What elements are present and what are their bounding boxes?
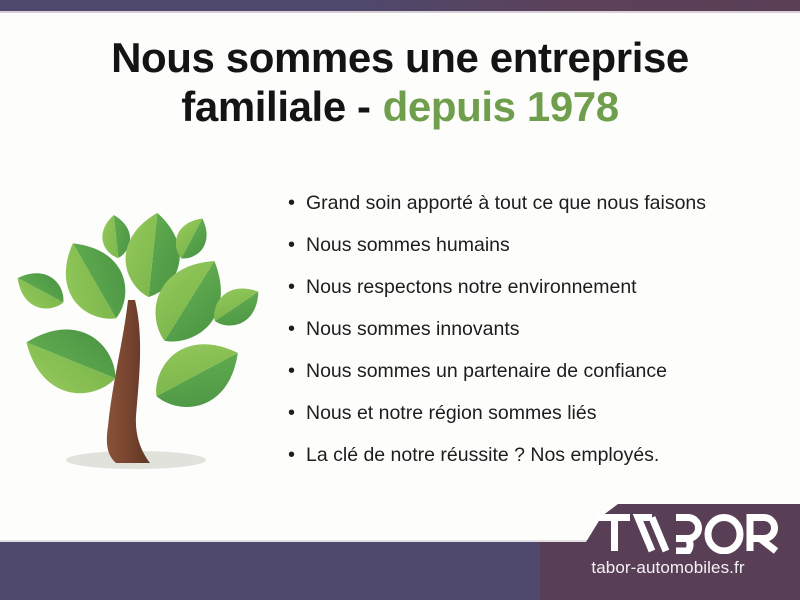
list-item-label: La clé de notre réussite ? Nos employés.: [306, 442, 659, 468]
list-item: • Nous sommes innovants: [286, 316, 776, 358]
list-item: • Nous sommes humains: [286, 232, 776, 274]
tree-icon: [8, 188, 274, 490]
bullet-marker-icon: •: [286, 442, 306, 468]
tree-leaves: [10, 210, 268, 422]
title-line-1: Nous sommes une entreprise: [0, 34, 800, 83]
bullet-marker-icon: •: [286, 400, 306, 426]
bullet-marker-icon: •: [286, 274, 306, 300]
bullet-marker-icon: •: [286, 358, 306, 384]
bullet-list: • Grand soin apporté à tout ce que nous …: [286, 190, 776, 484]
tree-trunk: [107, 300, 150, 463]
list-item-label: Nous sommes un partenaire de confiance: [306, 358, 667, 384]
list-item-label: Nous respectons notre environnement: [306, 274, 637, 300]
tabor-logo-wordmark: [596, 512, 786, 554]
bullet-marker-icon: •: [286, 316, 306, 342]
top-bar-underline: [0, 11, 800, 13]
title-line-2: familiale -depuis 1978: [0, 83, 800, 132]
top-gradient-bar: [0, 0, 800, 11]
list-item-label: Nous sommes humains: [306, 232, 510, 258]
list-item: • La clé de notre réussite ? Nos employé…: [286, 442, 776, 484]
list-item: • Grand soin apporté à tout ce que nous …: [286, 190, 776, 232]
title-line-2-accent: depuis 1978: [383, 83, 619, 130]
list-item-label: Nous sommes innovants: [306, 316, 520, 342]
list-item: • Nous sommes un partenaire de confiance: [286, 358, 776, 400]
title-line-2-plain: familiale -: [181, 83, 370, 130]
list-item: • Nous respectons notre environnement: [286, 274, 776, 316]
logo-url-label: tabor-automobiles.fr: [540, 558, 796, 578]
list-item-label: Grand soin apporté à tout ce que nous fa…: [306, 190, 706, 216]
bullet-marker-icon: •: [286, 190, 306, 216]
page-title: Nous sommes une entreprise familiale -de…: [0, 34, 800, 131]
list-item-label: Nous et notre région sommes liés: [306, 400, 596, 426]
slide-canvas: Nous sommes une entreprise familiale -de…: [0, 0, 800, 600]
list-item: • Nous et notre région sommes liés: [286, 400, 776, 442]
bullet-marker-icon: •: [286, 232, 306, 258]
